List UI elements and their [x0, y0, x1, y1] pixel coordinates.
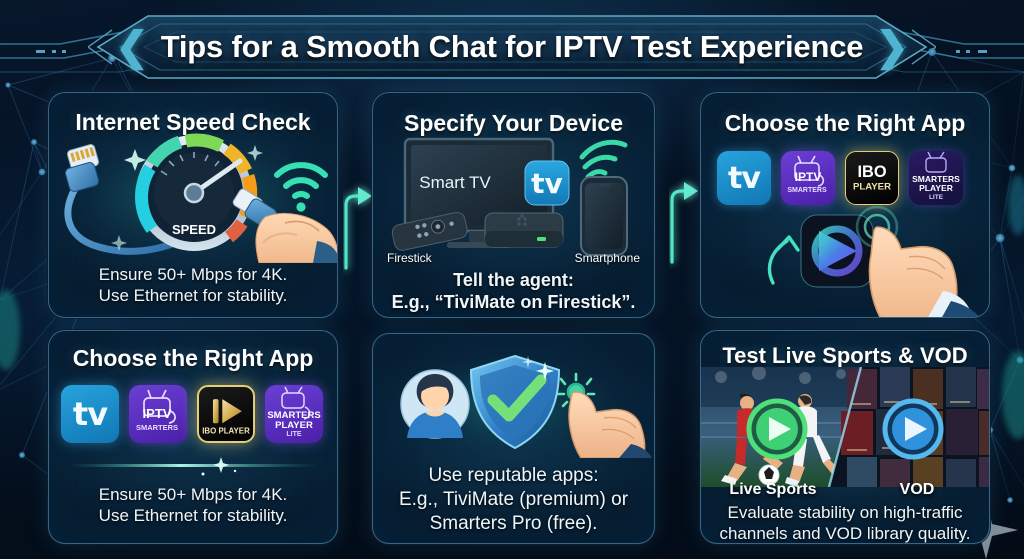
device-label-smartphone: Smartphone: [575, 251, 640, 265]
app-icon-iptv-smarters[interactable]: IPTV SMARTERS: [781, 151, 835, 205]
svg-text:LITE: LITE: [286, 431, 301, 438]
infographic-canvas: ❮ Tips for a Smooth Chat for IPTV Test E…: [0, 0, 1024, 559]
svg-text:LITE: LITE: [929, 194, 944, 201]
connector-arrow-2: [672, 182, 698, 262]
card-use-reputable-apps[interactable]: Use reputable apps: E.g., TiviMate (prem…: [372, 333, 655, 544]
title-banner: ❮ Tips for a Smooth Chat for IPTV Test E…: [88, 12, 936, 82]
card-choose-the-right-app-bottom[interactable]: Choose the Right App tv IPTV SMARTERS: [48, 330, 338, 544]
app-icon-ibo-player[interactable]: IBO PLAYER: [845, 151, 899, 205]
pointing-hand-icon: [869, 227, 981, 318]
smarters-player-lite-glyph: SMARTERS PLAYER LITE: [265, 385, 323, 443]
ethernet-connector: [64, 144, 99, 193]
card-heading: Test Live Sports & VOD: [701, 343, 989, 369]
ibo-player-glyph: IBO PLAYER: [199, 385, 253, 443]
curved-arrow-up-icon: [769, 237, 798, 283]
svg-text:IBO PLAYER: IBO PLAYER: [202, 427, 250, 436]
page-title: Tips for a Smooth Chat for IPTV Test Exp…: [161, 29, 864, 65]
app-icon-smarters-player-lite[interactable]: SMARTERS PLAYER LITE: [265, 385, 323, 443]
chevron-left-icon: ❮: [115, 27, 149, 67]
card-body: Evaluate stability on high-traffic chann…: [701, 503, 989, 544]
svg-text:IPTV: IPTV: [143, 406, 172, 421]
sports-vod-split-panel: [701, 367, 990, 487]
svg-text:SMARTERS: SMARTERS: [136, 423, 178, 432]
device-label-firestick: Firestick: [387, 251, 432, 265]
svg-text:IPTV: IPTV: [795, 170, 822, 184]
device-lineup-illustration: Smart TV tv: [373, 133, 655, 258]
app-icon-iptv-smarters[interactable]: IPTV SMARTERS: [129, 385, 187, 443]
user-avatar-icon: [401, 370, 469, 438]
glow-divider: [49, 449, 338, 483]
card-body: Ensure 50+ Mbps for 4K. Use Ethernet for…: [49, 265, 337, 306]
card-body: Tell the agent: E.g., “TiviMate on Fires…: [373, 270, 654, 314]
app-icon-smarters-player-lite[interactable]: SMARTERS PLAYER LITE: [909, 151, 963, 205]
tv-app-badge: tv: [525, 161, 569, 205]
iptv-smarters-glyph: IPTV SMARTERS: [781, 151, 835, 205]
set-top-box-icon: [485, 213, 563, 247]
app-icon-tv[interactable]: tv: [717, 151, 771, 205]
speedometer-illustration: SPEED: [49, 131, 338, 263]
svg-text:PLAYER: PLAYER: [919, 183, 953, 193]
panel-label-vod: VOD: [900, 481, 935, 498]
svg-text:PLAYER: PLAYER: [853, 182, 891, 193]
green-play-button: [749, 401, 805, 457]
card-body: Ensure 50+ Mbps for 4K. Use Ethernet for…: [49, 485, 337, 526]
card-heading: Choose the Right App: [701, 110, 989, 137]
smart-tv-label: Smart TV: [419, 173, 491, 192]
speed-gauge: SPEED: [136, 135, 252, 251]
card-internet-speed-check[interactable]: Internet Speed Check: [48, 92, 338, 318]
featured-app-and-hand: [701, 205, 990, 318]
smarters-player-lite-glyph: SMARTERS PLAYER LITE: [909, 151, 963, 205]
card-test-live-sports-and-vod[interactable]: Test Live Sports & VOD: [700, 330, 990, 544]
svg-text:tv: tv: [531, 167, 563, 200]
chevron-right-icon: ❯: [875, 27, 909, 67]
smartphone-icon: [581, 177, 627, 255]
iptv-smarters-glyph: IPTV SMARTERS: [129, 385, 187, 443]
avatar-shield-hand-illustration: [373, 348, 655, 458]
panel-label-live-sports: Live Sports: [729, 481, 816, 498]
card-specify-your-device[interactable]: Specify Your Device Smart TV tv: [372, 92, 655, 318]
card-choose-the-right-app-top[interactable]: Choose the Right App tv IPTV SMARTERS IB…: [700, 92, 990, 318]
gauge-label: SPEED: [172, 222, 216, 237]
media-player-app-icon: [801, 215, 873, 287]
blue-play-button: [885, 401, 941, 457]
svg-text:PLAYER: PLAYER: [275, 420, 313, 431]
ibo-player-glyph: IBO PLAYER: [846, 151, 898, 205]
app-icon-tv[interactable]: tv: [61, 385, 119, 443]
card-heading: Choose the Right App: [49, 345, 337, 372]
svg-text:SMARTERS: SMARTERS: [787, 187, 827, 194]
connector-arrow-1: [346, 187, 372, 268]
card-body: Use reputable apps: E.g., TiviMate (prem…: [373, 464, 654, 535]
svg-text:IBO: IBO: [857, 163, 886, 181]
app-icon-ibo-player[interactable]: IBO PLAYER: [197, 385, 255, 443]
